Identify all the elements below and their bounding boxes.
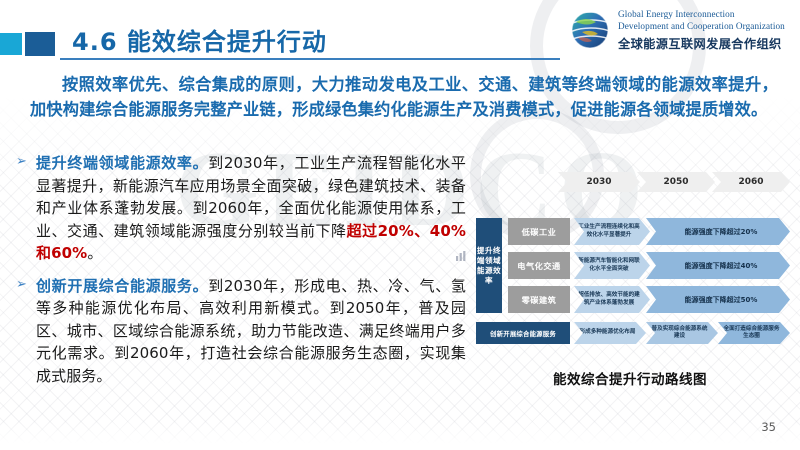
bullet-arrow-icon: ➢ — [16, 155, 27, 169]
header-square-blue-icon — [24, 31, 56, 57]
diagram-category-0: 低碳工业 — [508, 218, 570, 245]
header-underline-rule — [60, 58, 560, 60]
logo-en-line-1: Global Energy Interconnection — [618, 8, 796, 20]
organization-logo: Global Energy Interconnection Developmen… — [568, 6, 796, 56]
diagram-bottom-step-0: 形成多种能源优化布局 — [574, 322, 646, 344]
logo-en-line-2: Development and Cooperation Organization — [618, 20, 796, 32]
logo-cn-name: 全球能源互联网发展合作组织 — [618, 34, 796, 52]
header-square-cyan-icon — [0, 33, 22, 55]
timeline-chip-2060: 2060 — [712, 172, 790, 192]
diagram-milestone-2060-row-1: 能源强度下降超过40% — [646, 252, 790, 279]
bullet-item-2: ➢ 创新开展综合能源服务。到2030年，形成电、热、冷、气、氢等多种能源优化布局… — [14, 275, 466, 388]
diagram-milestone-2030-row-0: 工业生产流程连续化和高效化水平显著提升 — [574, 218, 650, 245]
diagram-caption: 能效综合提升行动路线图 — [470, 368, 790, 388]
bullet-2-body: 创新开展综合能源服务。到2030年，形成电、热、冷、气、氢等多种能源优化布局、高… — [36, 275, 466, 388]
slide-root: GEIDCO 4.6 能效综合提升行动 — [0, 0, 800, 450]
diagram-vertical-label: 提升终端领域能源效率 — [476, 218, 502, 313]
diagram-bottom-step-2: 全面打造综合能源服务生态圈 — [718, 322, 790, 344]
diagram-bottom-label: 创新开展综合能源服务 — [476, 322, 570, 344]
roadmap-diagram: 2030 2050 2060 提升终端领域能源效率 低碳工业 电气化交通 零碳建… — [470, 172, 790, 347]
globe-icon — [568, 8, 612, 52]
diagram-milestone-2030-row-1: 新能源汽车智能化和网联化水平全面突破 — [574, 252, 650, 279]
bullet-item-1: ➢ 提升终端领域能源效率。到2030年，工业生产流程智能化水平显著提升，新能源汽… — [14, 152, 466, 265]
bar-chart-icon — [455, 250, 467, 262]
diagram-milestone-2060-row-0: 能源强度下降超过20% — [646, 218, 790, 245]
bullet-arrow-icon: ➢ — [16, 278, 27, 292]
bullet-2-heading: 创新开展综合能源服务。 — [36, 277, 208, 295]
logo-text-block: Global Energy Interconnection Developmen… — [618, 8, 796, 52]
diagram-milestone-2060-row-2: 能源强度下降超过50% — [646, 286, 790, 313]
bullet-1-body: 提升终端领域能源效率。到2030年，工业生产流程智能化水平显著提升，新能源汽车应… — [36, 152, 466, 265]
timeline-chip-2050: 2050 — [637, 172, 715, 192]
slide-header: 4.6 能效综合提升行动 — [0, 0, 800, 64]
body-bullet-list: ➢ 提升终端领域能源效率。到2030年，工业生产流程智能化水平显著提升，新能源汽… — [14, 152, 466, 397]
diagram-category-1: 电气化交通 — [508, 252, 570, 279]
timeline-chip-2030: 2030 — [558, 172, 640, 192]
timeline-header: 2030 2050 2060 — [558, 172, 790, 192]
diagram-bottom-step-1: 普及实现综合能源系统建设 — [646, 322, 718, 344]
lead-paragraph: 按照效率优先、综合集成的原则，大力推动发电及工业、交通、建筑等终端领域的能源效率… — [30, 72, 778, 122]
bullet-1-heading: 提升终端领域能源效率。 — [36, 154, 208, 172]
page-title: 4.6 能效综合提升行动 — [72, 22, 327, 57]
diagram-category-2: 零碳建筑 — [508, 286, 570, 313]
page-number: 35 — [761, 420, 776, 434]
bullet-1-text-2: 。 — [87, 244, 102, 262]
diagram-milestone-2030-row-2: 超低排放、高效节能的建筑产业体系蓬勃发展 — [574, 286, 650, 313]
background-fade-bottom — [0, 420, 800, 450]
